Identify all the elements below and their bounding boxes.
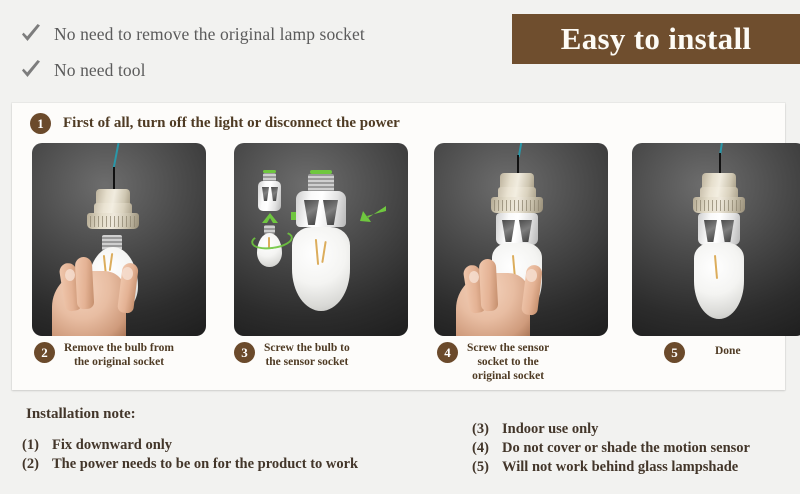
caption-text: Done (715, 344, 741, 358)
step-photo-panels (12, 143, 785, 339)
note-text: The power needs to be on for the product… (52, 456, 358, 472)
bullet-label: No need to remove the original lamp sock… (54, 24, 365, 45)
note-text: Indoor use only (502, 421, 598, 437)
caption-step-2: 2 Remove the bulb from the original sock… (34, 341, 174, 369)
notes-column-right: (3)Indoor use only (4)Do not cover or sh… (472, 420, 750, 477)
step-badge-5: 5 (664, 342, 685, 363)
step-badge-4: 4 (437, 342, 458, 363)
panel-hand-holding-sensor-bulb (434, 143, 608, 336)
step-badge-3: 3 (234, 342, 255, 363)
feature-bullet-list: No need to remove the original lamp sock… (18, 16, 365, 88)
notes-title: Installation note: (26, 406, 136, 423)
note-item: (2)The power needs to be on for the prod… (22, 455, 358, 474)
step-badge-1: 1 (30, 113, 51, 134)
note-item: (1)Fix downward only (22, 436, 358, 455)
panel-sensor-socket-assembly-diagram (234, 143, 408, 336)
caption-text: Screw the bulb to the sensor socket (264, 341, 350, 369)
arrow-left-icon (360, 205, 386, 223)
note-item: (3)Indoor use only (472, 420, 750, 439)
panel-installed-sensor-bulb (632, 143, 800, 336)
installation-steps-card: 1 First of all, turn off the light or di… (12, 103, 785, 390)
easy-to-install-banner: Easy to install (512, 14, 800, 64)
list-item: No need to remove the original lamp sock… (18, 16, 365, 52)
arrow-up-icon (261, 213, 279, 225)
note-number: (3) (472, 420, 502, 439)
step-1-label: First of all, turn off the light or disc… (63, 115, 400, 132)
caption-step-5: 5 Done (664, 341, 741, 363)
caption-line: socket to the (477, 356, 538, 368)
check-icon (18, 21, 44, 47)
caption-step-4: 4 Screw the sensor socket to the origina… (437, 341, 549, 383)
caption-line: the original socket (74, 356, 164, 368)
caption-line: Screw the bulb to (264, 342, 350, 354)
notes-column-left: (1)Fix downward only (2)The power needs … (22, 436, 358, 474)
note-text: Will not work behind glass lampshade (502, 459, 738, 475)
note-number: (5) (472, 458, 502, 477)
installation-notes: Installation note: (1)Fix downward only … (0, 398, 800, 494)
caption-text: Remove the bulb from the original socket (64, 341, 174, 369)
note-item: (4)Do not cover or shade the motion sens… (472, 439, 750, 458)
note-text: Fix downward only (52, 437, 172, 453)
bullet-label: No need tool (54, 60, 146, 81)
list-item: No need tool (18, 52, 365, 88)
caption-line: the sensor socket (265, 356, 348, 368)
caption-line: Screw the sensor (467, 342, 549, 354)
note-number: (2) (22, 455, 52, 474)
note-number: (4) (472, 439, 502, 458)
header: No need to remove the original lamp sock… (0, 0, 800, 96)
check-icon (18, 57, 44, 83)
caption-step-3: 3 Screw the bulb to the sensor socket (234, 341, 350, 369)
caption-text: Screw the sensor socket to the original … (467, 341, 549, 383)
note-number: (1) (22, 436, 52, 455)
step-captions: 2 Remove the bulb from the original sock… (12, 341, 785, 387)
step-1-header: 1 First of all, turn off the light or di… (30, 113, 400, 134)
caption-line: original socket (472, 370, 544, 382)
step-badge-2: 2 (34, 342, 55, 363)
banner-title: Easy to install (561, 21, 752, 57)
note-item: (5)Will not work behind glass lampshade (472, 458, 750, 477)
panel-hand-holding-bulb-in-socket (32, 143, 206, 336)
caption-line: Remove the bulb from (64, 342, 174, 354)
note-text: Do not cover or shade the motion sensor (502, 440, 750, 456)
